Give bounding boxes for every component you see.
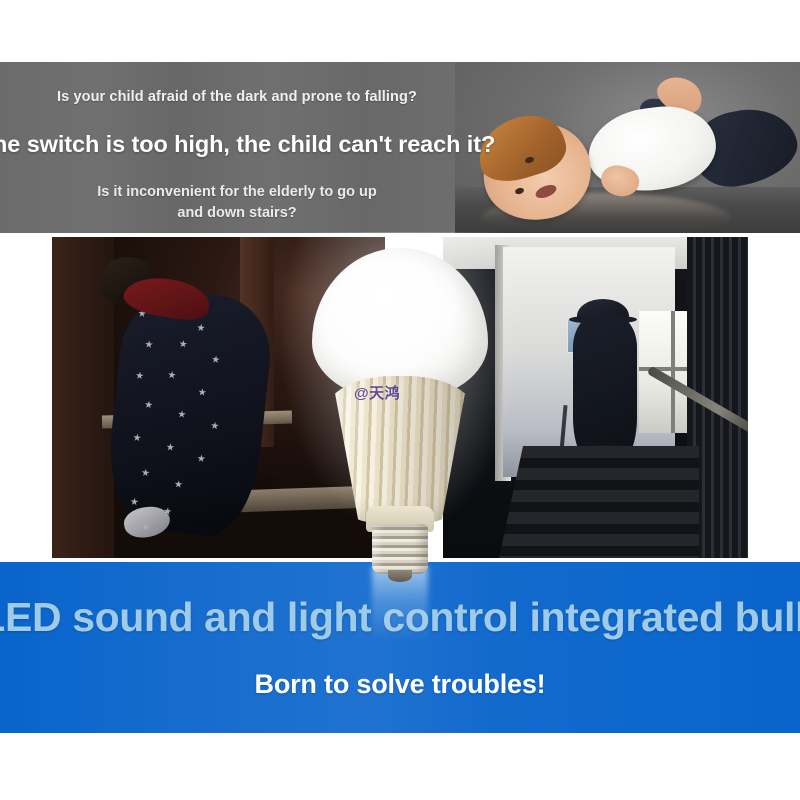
header-headline: The switch is too high, the child can't … <box>0 130 495 158</box>
elderly-man-body <box>573 315 637 461</box>
watermark-text: @天鸿 <box>354 382 400 403</box>
product-poster: Is your child afraid of the dark and pro… <box>0 0 800 800</box>
star-pattern <box>102 286 276 540</box>
product-subheadline: Born to solve troubles! <box>255 670 546 700</box>
led-bulb-product-image: @天鸿 <box>300 248 500 588</box>
header-band: Is your child afraid of the dark and pro… <box>0 62 800 233</box>
window-bar-vertical <box>671 311 675 433</box>
header-question-1: Is your child afraid of the dark and pro… <box>57 89 417 106</box>
header-question-2: Is it inconvenient for the elderly to go… <box>87 182 387 224</box>
header-text-block: Is your child afraid of the dark and pro… <box>22 62 452 233</box>
bulb-base-tip <box>388 570 412 582</box>
bulb-e27-screw-base <box>372 524 428 574</box>
baby-photo <box>455 62 800 233</box>
elderly-man-hat-brim <box>569 315 637 324</box>
child-body <box>102 286 276 540</box>
stair-treads <box>499 446 699 558</box>
product-headline: LED sound and light control integrated b… <box>0 596 800 639</box>
